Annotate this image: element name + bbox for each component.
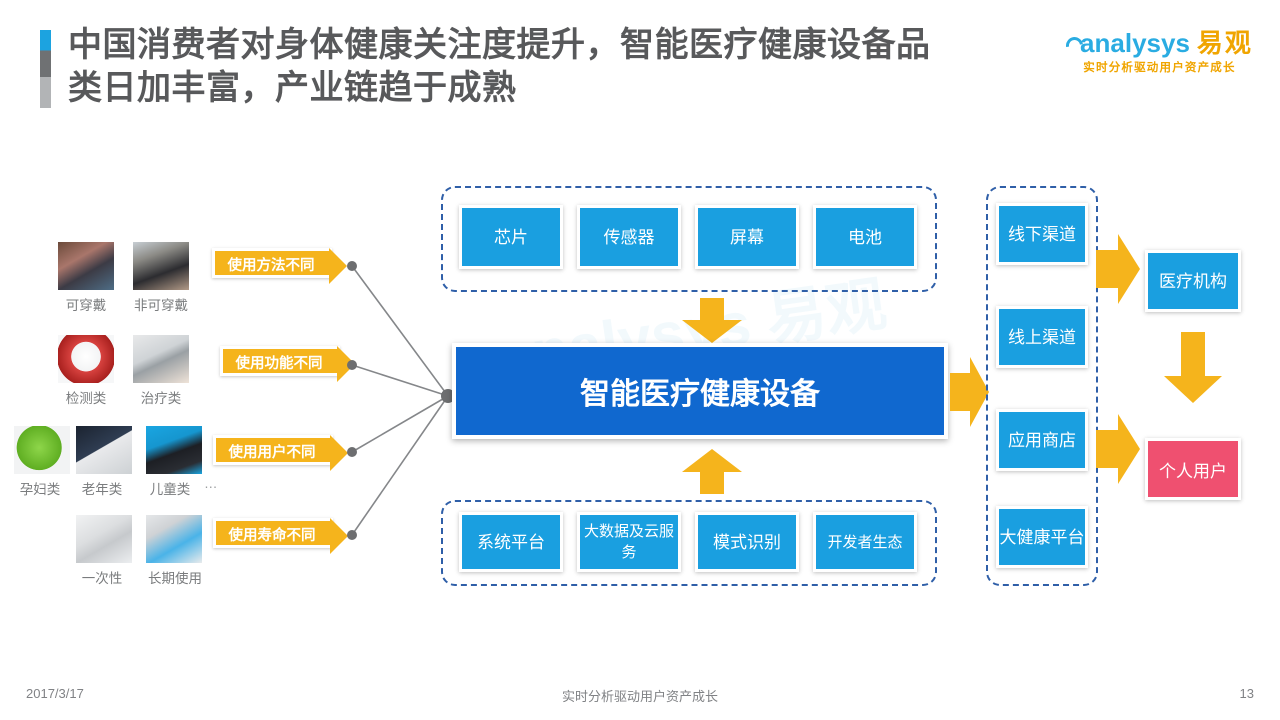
thumbnail-disposable <box>76 515 132 563</box>
arrow-down-icon-institution-to-individual <box>1160 332 1226 404</box>
banner-usage-method[interactable]: 使用方法不同 <box>212 248 332 278</box>
channel-box-offline[interactable]: 线下渠道 <box>996 203 1088 265</box>
caption-pregnant: 孕妇类 <box>10 478 70 498</box>
logo-brand-cn: 易观 <box>1197 28 1253 58</box>
banner-usage-function[interactable]: 使用功能不同 <box>220 346 340 376</box>
caption-nonwearable: 非可穿戴 <box>126 294 196 314</box>
logo-brand-en: analysys <box>1080 28 1190 58</box>
software-box-bigdata-cloud[interactable]: 大数据及云服务 <box>577 512 681 572</box>
footer-tagline: 实时分析驱动用户资产成长 <box>0 686 1280 705</box>
channel-box-online[interactable]: 线上渠道 <box>996 306 1088 368</box>
software-box-system-platform[interactable]: 系统平台 <box>459 512 563 572</box>
page-title-line-2: 类日加丰富，产业链趋于成熟 <box>68 67 1028 110</box>
thumbnail-wearable <box>58 242 114 290</box>
thumbnail-detection <box>58 335 114 383</box>
page-header: 中国消费者对身体健康关注度提升，智能医疗健康设备品 类日加丰富，产业链趋于成熟 … <box>0 0 1280 140</box>
arrow-right-icon-center-to-channel <box>950 355 990 429</box>
page-footer: 2017/3/17 实时分析驱动用户资产成长 13 <box>0 674 1280 720</box>
arrow-up-icon-software-to-center <box>676 449 748 495</box>
endpoint-box-individual-user[interactable]: 个人用户 <box>1145 438 1241 500</box>
thumbnail-treatment <box>133 335 189 383</box>
channel-box-health-platform[interactable]: 大健康平台 <box>996 506 1088 568</box>
banner-usage-user[interactable]: 使用用户不同 <box>213 435 333 465</box>
caption-detection: 检测类 <box>58 387 114 407</box>
logo-wordmark: analysys易观 <box>1057 28 1262 58</box>
channel-box-app-store[interactable]: 应用商店 <box>996 409 1088 471</box>
category-row-3-ellipsis: … <box>204 476 218 491</box>
caption-treatment: 治疗类 <box>133 387 189 407</box>
thumbnail-pregnant <box>14 426 70 474</box>
thumbnail-nonwearable <box>133 242 189 290</box>
footer-page-number: 13 <box>1240 686 1254 701</box>
brand-logo: analysys易观 实时分析驱动用户资产成长 <box>1057 28 1262 75</box>
center-box-smart-medical-device[interactable]: 智能医疗健康设备 <box>452 343 948 439</box>
page-title-line-1: 中国消费者对身体健康关注度提升，智能医疗健康设备品 <box>68 24 1028 67</box>
thumbnail-elderly <box>76 426 132 474</box>
caption-wearable: 可穿戴 <box>58 294 114 314</box>
logo-tagline: 实时分析驱动用户资产成长 <box>1057 59 1262 75</box>
software-box-developer-ecosystem[interactable]: 开发者生态 <box>813 512 917 572</box>
page-title: 中国消费者对身体健康关注度提升，智能医疗健康设备品 类日加丰富，产业链趋于成熟 <box>68 24 1028 110</box>
title-accent-bar <box>40 30 51 108</box>
banner-usage-lifetime[interactable]: 使用寿命不同 <box>213 518 333 548</box>
hardware-box-sensor[interactable]: 传感器 <box>577 205 681 269</box>
hardware-box-chip[interactable]: 芯片 <box>459 205 563 269</box>
arrow-right-icon-channel-to-institution <box>1096 232 1142 306</box>
caption-elderly: 老年类 <box>72 478 132 498</box>
software-box-pattern-recognition[interactable]: 模式识别 <box>695 512 799 572</box>
endpoint-box-medical-institution[interactable]: 医疗机构 <box>1145 250 1241 312</box>
hardware-box-battery[interactable]: 电池 <box>813 205 917 269</box>
caption-disposable: 一次性 <box>72 567 132 587</box>
caption-children: 儿童类 <box>140 478 200 498</box>
arrow-right-icon-channel-to-individual <box>1096 412 1142 486</box>
thumbnail-longterm <box>146 515 202 563</box>
thumbnail-children <box>146 426 202 474</box>
caption-longterm: 长期使用 <box>140 567 210 587</box>
arrow-down-icon-hardware-to-center <box>676 298 748 344</box>
hardware-box-screen[interactable]: 屏幕 <box>695 205 799 269</box>
